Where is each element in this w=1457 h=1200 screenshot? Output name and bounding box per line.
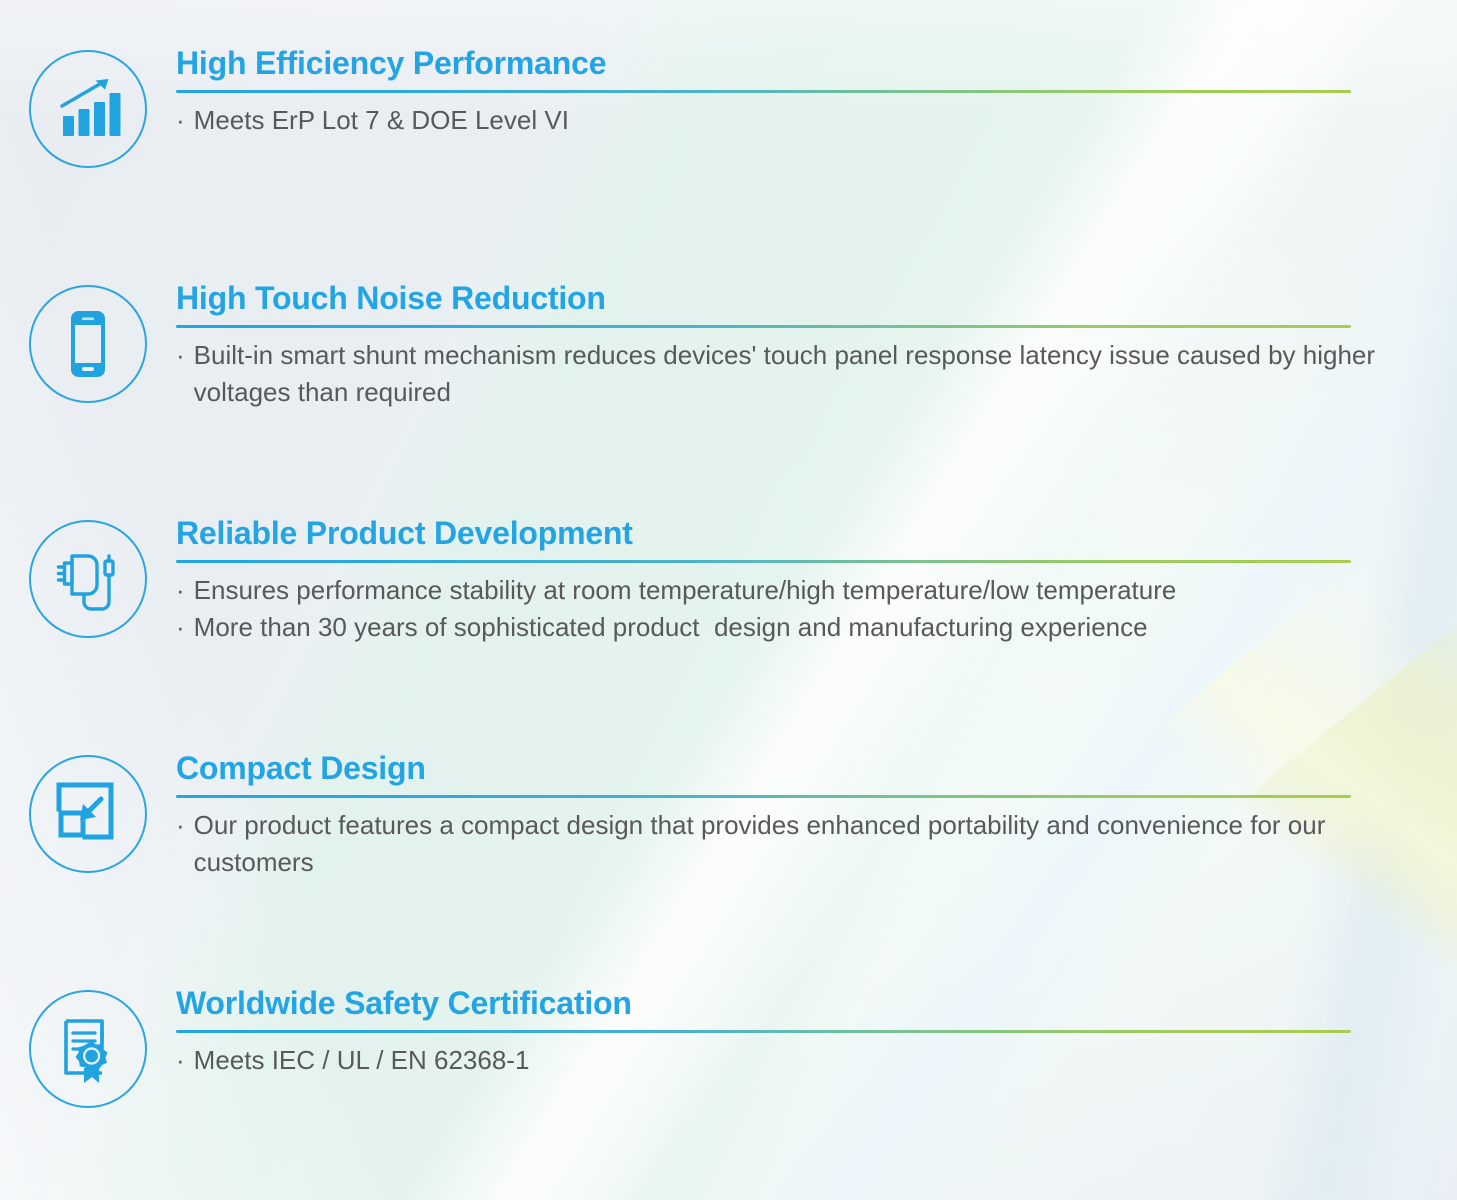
feature-item: Compact Design · Our product features a … <box>0 751 1457 882</box>
feature-item: High Touch Noise Reduction · Built-in sm… <box>0 281 1457 412</box>
feature-bullet: · Our product features a compact design … <box>176 807 1397 882</box>
feature-divider <box>176 90 1351 93</box>
feature-title: Reliable Product Development <box>176 516 1397 551</box>
feature-bullet-list: · Meets IEC / UL / EN 62368-1 <box>176 1042 1397 1080</box>
feature-bullet-list: · Our product features a compact design … <box>176 807 1397 882</box>
feature-icon-slot <box>0 46 176 168</box>
feature-list-page: High Efficiency Performance · Meets ErP … <box>0 0 1457 1200</box>
feature-text-block: High Efficiency Performance · Meets ErP … <box>176 46 1457 139</box>
feature-text-block: Reliable Product Development · Ensures p… <box>176 516 1457 647</box>
feature-icon-slot <box>0 516 176 638</box>
bullet-text: Our product features a compact design th… <box>194 807 1397 882</box>
power-adapter-icon <box>29 520 147 638</box>
feature-bullet: · Ensures performance stability at room … <box>176 572 1397 610</box>
feature-icon-slot <box>0 281 176 403</box>
feature-title: Compact Design <box>176 751 1397 786</box>
bullet-text: Meets IEC / UL / EN 62368-1 <box>194 1042 1397 1080</box>
feature-item: Worldwide Safety Certification · Meets I… <box>0 986 1457 1108</box>
feature-icon-slot <box>0 986 176 1108</box>
feature-divider <box>176 325 1351 328</box>
smartphone-icon <box>29 285 147 403</box>
feature-text-block: Compact Design · Our product features a … <box>176 751 1457 882</box>
feature-bullet-list: · Meets ErP Lot 7 & DOE Level VI <box>176 102 1397 140</box>
bullet-text: Built-in smart shunt mechanism reduces d… <box>194 337 1397 412</box>
feature-title: High Efficiency Performance <box>176 46 1397 81</box>
compact-resize-icon <box>29 755 147 873</box>
bullet-text: More than 30 years of sophisticated prod… <box>194 609 1397 647</box>
feature-bullet: · Meets IEC / UL / EN 62368-1 <box>176 1042 1397 1080</box>
bullet-text: Ensures performance stability at room te… <box>194 572 1397 610</box>
feature-item: Reliable Product Development · Ensures p… <box>0 516 1457 647</box>
bullet-marker: · <box>176 1042 185 1080</box>
bullet-marker: · <box>176 102 185 140</box>
feature-bullet-list: · Built-in smart shunt mechanism reduces… <box>176 337 1397 412</box>
feature-title: Worldwide Safety Certification <box>176 986 1397 1021</box>
feature-item: High Efficiency Performance · Meets ErP … <box>0 46 1457 168</box>
feature-list: High Efficiency Performance · Meets ErP … <box>0 0 1457 1200</box>
bar-chart-growth-icon <box>29 50 147 168</box>
feature-bullet-list: · Ensures performance stability at room … <box>176 572 1397 647</box>
feature-title: High Touch Noise Reduction <box>176 281 1397 316</box>
bullet-marker: · <box>176 807 185 845</box>
feature-text-block: Worldwide Safety Certification · Meets I… <box>176 986 1457 1079</box>
feature-bullet: · Meets ErP Lot 7 & DOE Level VI <box>176 102 1397 140</box>
bullet-text: Meets ErP Lot 7 & DOE Level VI <box>194 102 1397 140</box>
feature-divider <box>176 1030 1351 1033</box>
feature-bullet: · More than 30 years of sophisticated pr… <box>176 609 1397 647</box>
feature-divider <box>176 795 1351 798</box>
feature-text-block: High Touch Noise Reduction · Built-in sm… <box>176 281 1457 412</box>
bullet-marker: · <box>176 572 185 610</box>
feature-divider <box>176 560 1351 563</box>
bullet-marker: · <box>176 337 185 375</box>
bullet-marker: · <box>176 609 185 647</box>
feature-bullet: · Built-in smart shunt mechanism reduces… <box>176 337 1397 412</box>
certificate-award-icon <box>29 990 147 1108</box>
feature-icon-slot <box>0 751 176 873</box>
